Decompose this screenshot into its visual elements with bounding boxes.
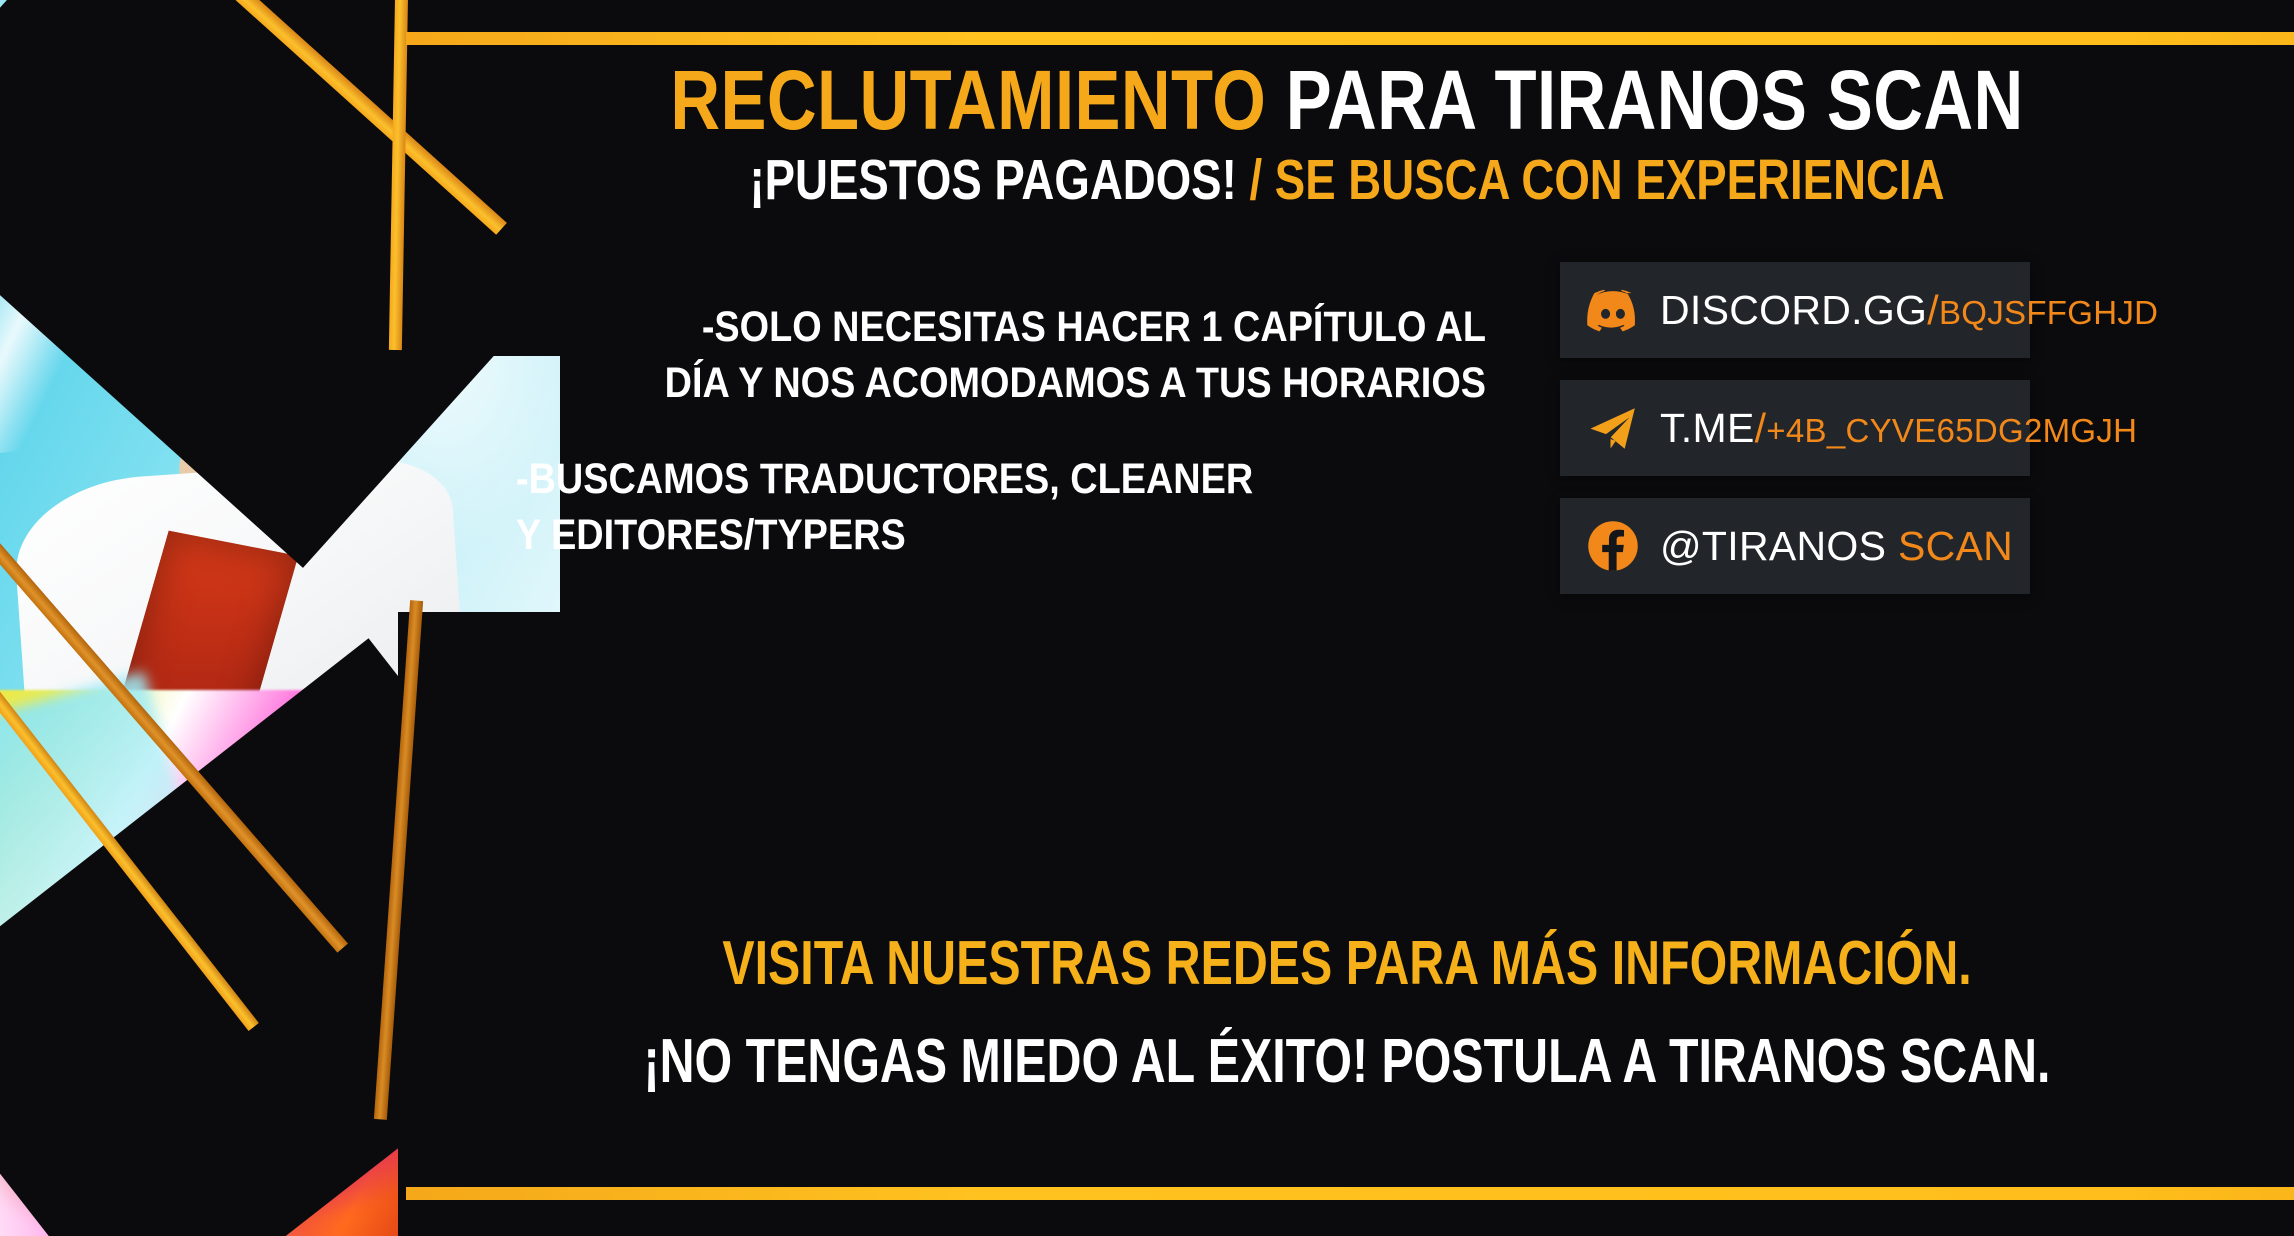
cta-line-2: ¡NO TENGAS MIEDO AL ÉXITO! POSTULA A TIR…	[608, 1026, 2085, 1097]
bullet-schedule: -SOLO NECESITAS HACER 1 CAPÍTULO AL DÍA …	[480, 300, 1500, 412]
divider-bottom	[406, 1187, 2294, 1200]
contact-card-discord[interactable]: DISCORD.GG/bQJsFFgHJd	[1560, 262, 2030, 358]
page-subtitle: ¡PUESTOS PAGADOS! / SE BUSCA CON EXPERIE…	[589, 152, 2104, 209]
contact-card-telegram[interactable]: T.ME/+4B_CyVe65DG2MGJh	[1560, 380, 2030, 476]
page-subtitle-orange: / SE BUSCA CON EXPERIENCIA	[1237, 148, 1945, 212]
facebook-handle-suffix: SCAN	[1898, 523, 2013, 569]
bullet-schedule-line-1: -SOLO NECESITAS HACER 1 CAPÍTULO AL	[601, 300, 1486, 356]
bullet-roles-line-2: Y EDITORES/TYPERS	[516, 508, 1382, 564]
telegram-invite-code: +4B_CyVe65DG2MGJh	[1766, 412, 2137, 449]
facebook-icon	[1586, 519, 1640, 573]
discord-separator: /	[1927, 287, 1939, 333]
telegram-icon	[1586, 401, 1640, 455]
facebook-separator	[1886, 523, 1898, 569]
page-title-white: PARA TIRANOS SCAN	[1266, 53, 2023, 147]
facebook-handle: @TIRANOS	[1660, 523, 1886, 569]
bullet-roles-line-1: -BUSCAMOS TRADUCTORES, CLEANER	[516, 452, 1382, 508]
recruitment-banner: RECLUTAMIENTO PARA TIRANOS SCAN ¡PUESTOS…	[0, 0, 2294, 1236]
cta-line-1: VISITA NUESTRAS REDES PARA MÁS INFORMACI…	[608, 928, 2085, 999]
bullet-list: -SOLO NECESITAS HACER 1 CAPÍTULO AL DÍA …	[480, 300, 1500, 604]
contact-card-telegram-text: T.ME/+4B_CyVe65DG2MGJh	[1660, 405, 2137, 452]
contact-card-list: DISCORD.GG/bQJsFFgHJd T.ME/+4B_CyVe65DG2…	[1560, 262, 2030, 616]
contact-card-facebook[interactable]: @TIRANOS SCAN	[1560, 498, 2030, 594]
page-subtitle-white: ¡PUESTOS PAGADOS!	[749, 148, 1236, 212]
contact-card-discord-text: DISCORD.GG/bQJsFFgHJd	[1660, 287, 2158, 334]
bullet-roles: -BUSCAMOS TRADUCTORES, CLEANER Y EDITORE…	[480, 452, 1500, 564]
discord-invite-code: bQJsFFgHJd	[1939, 294, 2158, 331]
discord-icon	[1586, 283, 1640, 337]
contact-card-facebook-text: @TIRANOS SCAN	[1660, 523, 2013, 570]
content-area: RECLUTAMIENTO PARA TIRANOS SCAN ¡PUESTOS…	[400, 0, 2294, 1236]
telegram-separator: /	[1755, 405, 1767, 451]
telegram-domain: T.ME	[1660, 405, 1755, 451]
discord-domain: DISCORD.GG	[1660, 287, 1927, 333]
bullet-schedule-line-2: DÍA Y NOS ACOMODAMOS A TUS HORARIOS	[601, 356, 1486, 412]
page-title-orange: RECLUTAMIENTO	[670, 53, 1266, 147]
page-title: RECLUTAMIENTO PARA TIRANOS SCAN	[570, 58, 2123, 142]
divider-top	[406, 32, 2294, 45]
